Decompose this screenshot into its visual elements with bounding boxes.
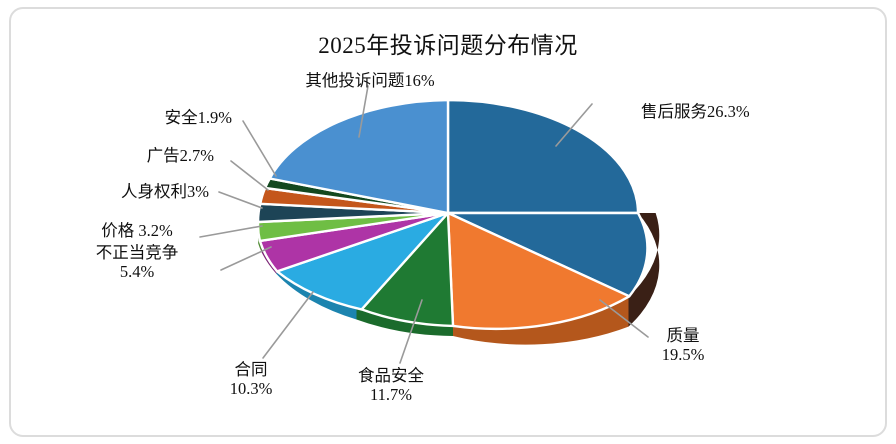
- slice-label-unfair-competition: 不正当竞争 5.4%: [62, 243, 212, 282]
- leader-unfair-competition: [221, 247, 271, 270]
- pie-top-face: [258, 100, 647, 329]
- slice-label-contract: 合同 10.3%: [203, 360, 299, 399]
- leader-contract: [263, 292, 313, 358]
- slice-label-other: 其他投诉问题16%: [266, 71, 474, 90]
- slice-label-price: 价格 3.2%: [62, 221, 212, 240]
- slice-label-contract-line1: 合同: [203, 360, 299, 379]
- slice-label-unfair-competition-line2: 5.4%: [62, 262, 212, 281]
- slice-label-personal-rights: 人身权利3%: [62, 182, 209, 201]
- slice-label-quality: 质量 19.5%: [635, 326, 731, 365]
- slice-label-quality-line1: 质量: [635, 326, 731, 345]
- slice-label-after-sales: 售后服务26.3%: [641, 102, 750, 121]
- slice-label-quality-line2: 19.5%: [635, 345, 731, 364]
- slice-label-advertising: 广告2.7%: [78, 146, 214, 165]
- pie-slice-after-sales[interactable]: [448, 100, 638, 213]
- leader-advertising: [231, 161, 268, 190]
- slice-label-food-safety-line2: 11.7%: [336, 385, 446, 404]
- leader-safety: [243, 121, 276, 176]
- slice-label-safety: 安全1.9%: [100, 108, 232, 127]
- slice-label-food-safety-line1: 食品安全: [336, 366, 446, 385]
- slice-label-unfair-competition-line1: 不正当竞争: [62, 243, 212, 262]
- slice-label-contract-line2: 10.3%: [203, 379, 299, 398]
- chart-page: 2025年投诉问题分布情况: [0, 0, 896, 444]
- leader-personal-rights: [219, 192, 262, 208]
- slice-label-food-safety: 食品安全 11.7%: [336, 366, 446, 405]
